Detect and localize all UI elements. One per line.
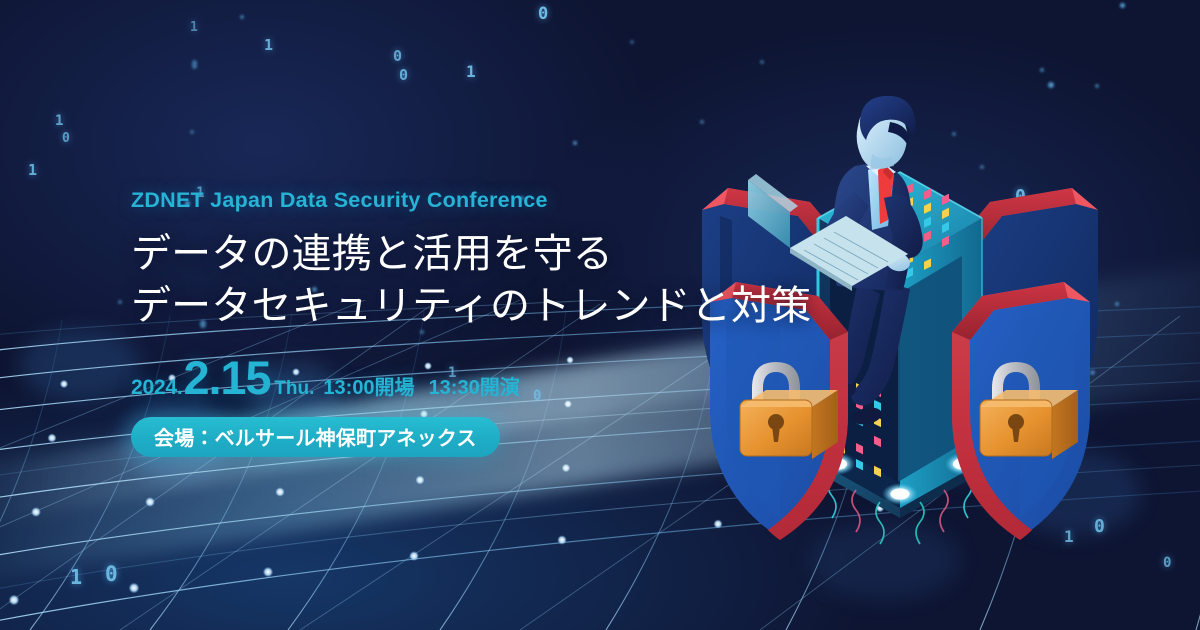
page-title: データの連携と活用を守る データセキュリティのトレンドと対策 bbox=[131, 228, 751, 332]
sparkle bbox=[192, 60, 197, 69]
sparkle bbox=[1120, 3, 1125, 8]
event-date-time: 2024. 2.15 Thu. 13:00開場 13:30開演 bbox=[131, 357, 751, 400]
sparkle bbox=[630, 40, 634, 44]
headline-line-1: データの連携と活用を守る bbox=[131, 228, 751, 280]
start-time: 13:30開演 bbox=[429, 371, 520, 400]
binary-digit: 0 bbox=[399, 66, 408, 84]
date-weekday: Thu. bbox=[274, 378, 314, 400]
bokeh-blob bbox=[20, 330, 140, 400]
conference-eyebrow: ZDNET Japan Data Security Conference bbox=[131, 190, 751, 212]
date-day: 2.15 bbox=[184, 357, 271, 399]
sparkle bbox=[573, 141, 577, 145]
binary-digit: 0 bbox=[1163, 555, 1171, 571]
conference-banner: 010011011101010100 bbox=[0, 0, 1200, 630]
doors-open-time: 13:00開場 bbox=[323, 371, 414, 400]
shield-front-right bbox=[952, 282, 1090, 540]
sparkle bbox=[190, 130, 194, 134]
binary-digit: 1 bbox=[466, 62, 476, 81]
sparkle bbox=[118, 300, 122, 304]
binary-digit: 0 bbox=[62, 131, 70, 146]
venue-badge: 会場：ベルサール神保町アネックス bbox=[131, 417, 500, 457]
binary-digit: 1 bbox=[55, 113, 63, 129]
binary-digit: 0 bbox=[105, 562, 118, 586]
headline-block: ZDNET Japan Data Security Conference データ… bbox=[131, 190, 751, 457]
sparkle bbox=[1115, 302, 1119, 306]
binary-digit: 1 bbox=[190, 20, 198, 35]
binary-digit: 0 bbox=[393, 47, 402, 65]
binary-digit: 0 bbox=[538, 4, 548, 24]
binary-digit: 1 bbox=[70, 565, 82, 589]
binary-digit: 1 bbox=[28, 161, 37, 179]
headline-line-2: データセキュリティのトレンドと対策 bbox=[131, 280, 751, 332]
sparkle bbox=[760, 60, 764, 64]
date-year: 2024. bbox=[131, 376, 183, 400]
binary-digit: 1 bbox=[264, 36, 273, 54]
sparkle bbox=[240, 15, 244, 19]
